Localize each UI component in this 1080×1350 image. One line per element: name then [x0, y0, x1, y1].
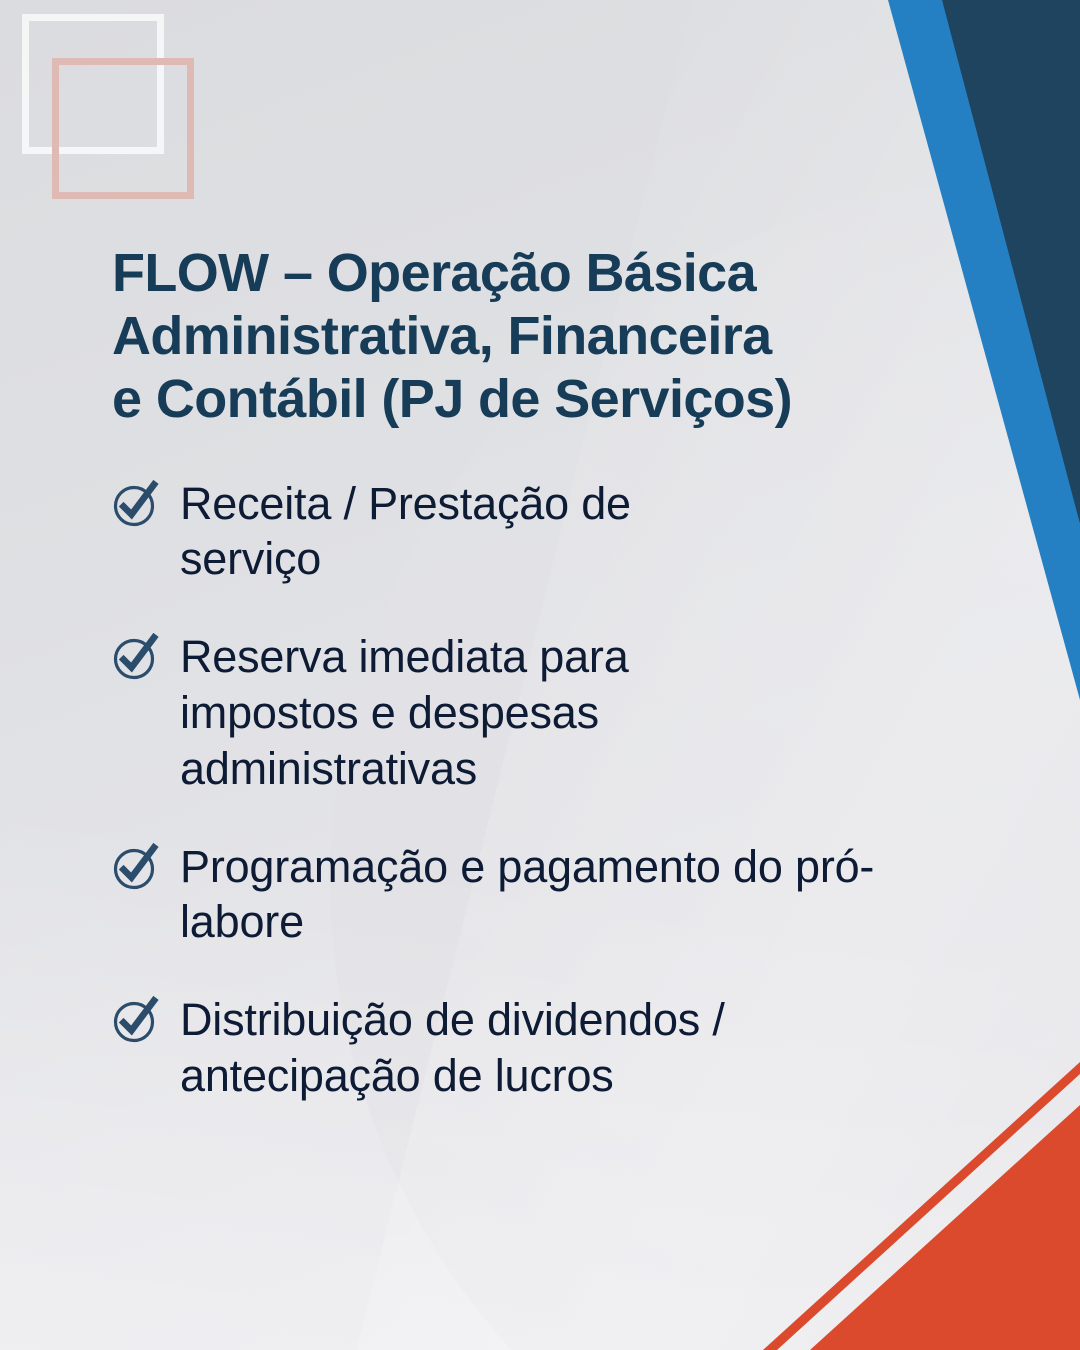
- list-item: Programação e pagamento do pró-labore: [112, 839, 902, 951]
- content-block: FLOW – Operação Básica Administrativa, F…: [112, 242, 902, 1104]
- list-item: Receita / Prestação de serviço: [112, 476, 902, 588]
- check-circle-icon: [112, 482, 158, 528]
- check-circle-icon: [112, 845, 158, 891]
- bullet-list: Receita / Prestação de serviço Reserva i…: [112, 476, 902, 1104]
- list-item-label: Distribuição de dividendos / antecipação…: [180, 992, 880, 1104]
- list-item: Reserva imediata para impostos e despesa…: [112, 629, 902, 796]
- page-title: FLOW – Operação Básica Administrativa, F…: [112, 242, 792, 432]
- corner-triangle-orange: [810, 1105, 1080, 1350]
- slide-canvas: FLOW – Operação Básica Administrativa, F…: [0, 0, 1080, 1350]
- list-item-label: Programação e pagamento do pró-labore: [180, 839, 880, 951]
- check-circle-icon: [112, 635, 158, 681]
- list-item: Distribuição de dividendos / antecipação…: [112, 992, 902, 1104]
- check-circle-icon: [112, 998, 158, 1044]
- list-item-label: Receita / Prestação de serviço: [180, 476, 740, 588]
- list-item-label: Reserva imediata para impostos e despesa…: [180, 629, 740, 796]
